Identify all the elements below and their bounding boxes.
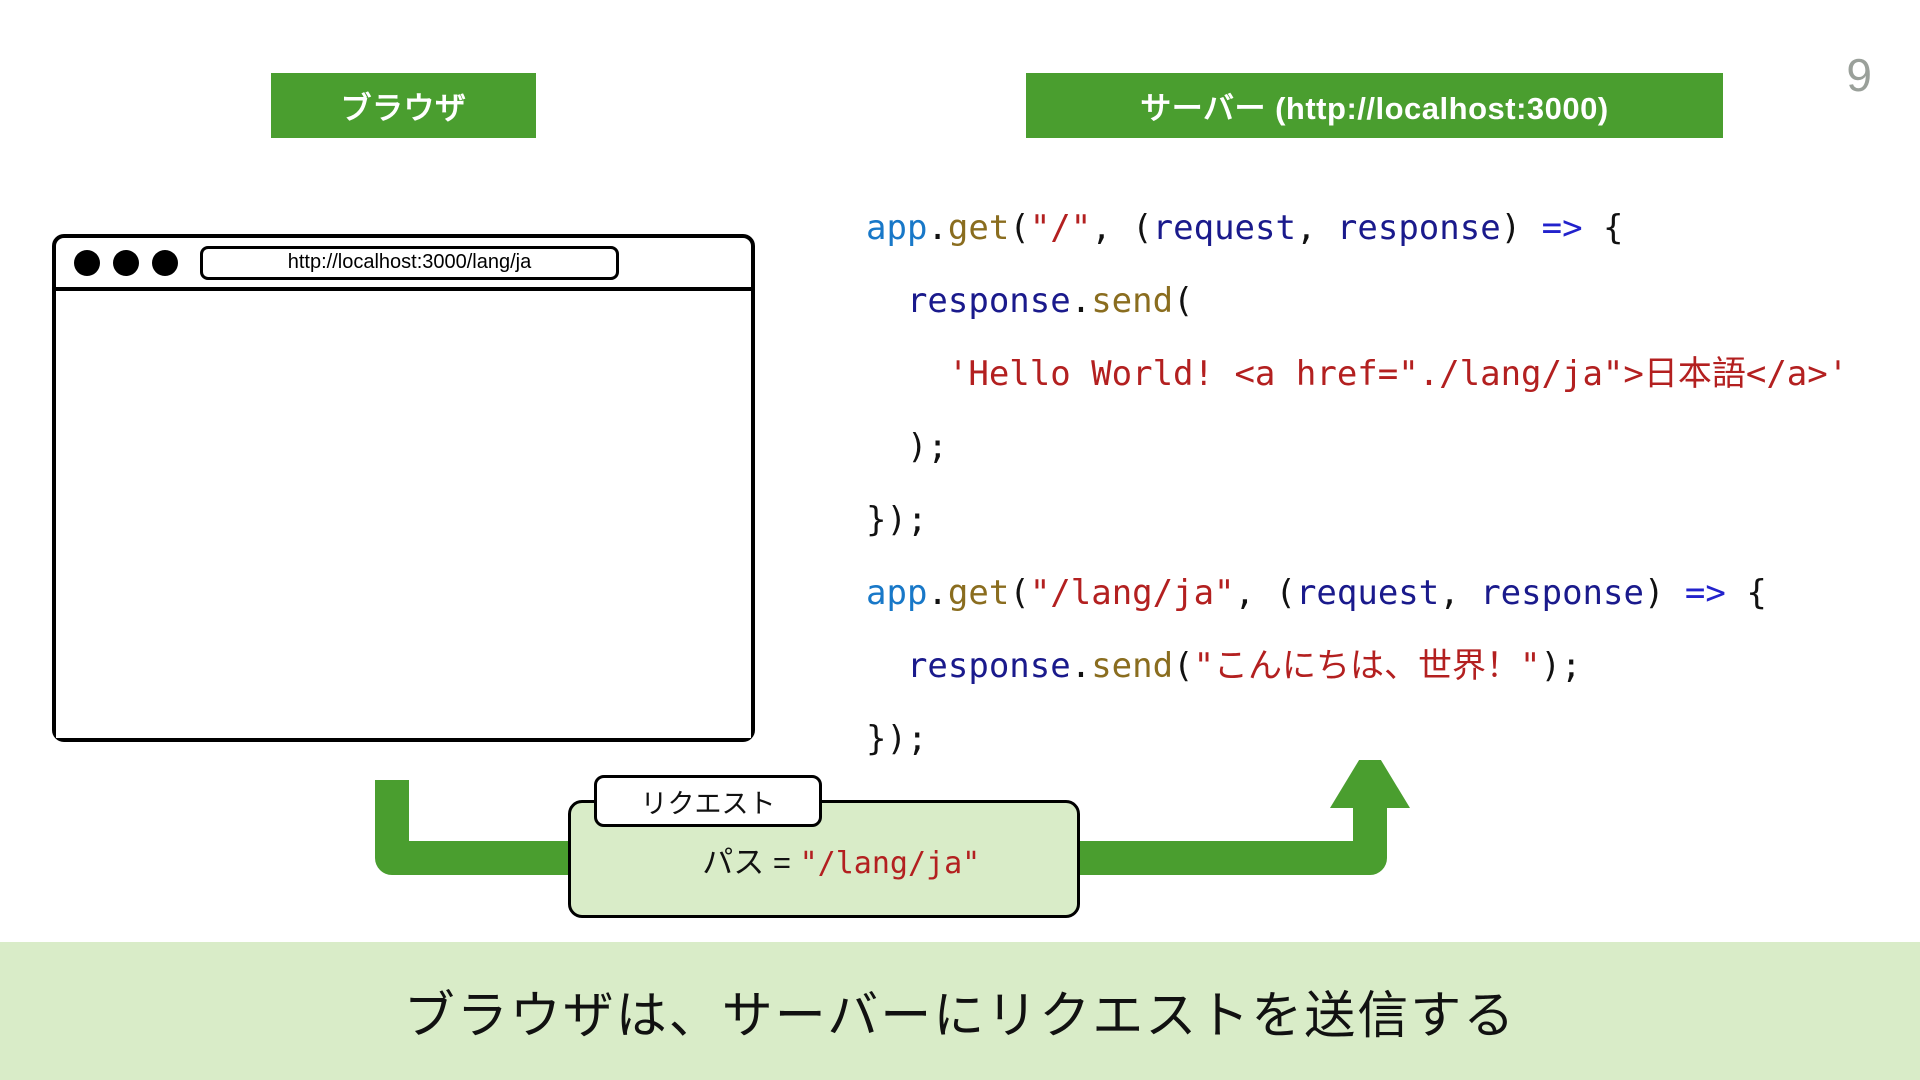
code-token: ) <box>1644 573 1685 613</box>
code-line: }); <box>866 703 1848 776</box>
slide-number: 9 <box>1846 52 1872 98</box>
request-label-box: リクエスト <box>594 775 822 827</box>
code-token: request <box>1153 208 1296 248</box>
code-token: { <box>1726 573 1767 613</box>
code-token: , ( <box>1235 573 1296 613</box>
request-path-value: "/lang/ja" <box>800 846 981 881</box>
code-token: "/lang/ja" <box>1030 573 1235 613</box>
code-token: , <box>1439 573 1480 613</box>
window-dot-minimize-icon[interactable] <box>113 250 139 276</box>
url-text: http://localhost:3000/lang/ja <box>288 251 532 274</box>
code-token: response <box>907 646 1071 686</box>
code-token: => <box>1685 573 1726 613</box>
code-token: 'Hello World! <a href="./lang/ja">日本語</a… <box>948 354 1848 394</box>
code-token: app <box>866 573 927 613</box>
code-token: get <box>948 573 1009 613</box>
caption-text: ブラウザは、サーバーにリクエストを送信する <box>404 974 1517 1048</box>
code-token: app <box>866 208 927 248</box>
code-token: response <box>1337 208 1501 248</box>
code-token: ( <box>1173 281 1193 321</box>
code-line: }); <box>866 484 1848 557</box>
banner-server: サーバー (http://localhost:3000) <box>1026 73 1723 138</box>
code-token: . <box>927 208 947 248</box>
code-token: . <box>1071 281 1091 321</box>
code-token: }); <box>866 500 927 540</box>
code-token: , <box>1296 208 1337 248</box>
code-line: app.get("/lang/ja", (request, response) … <box>866 557 1848 630</box>
banner-browser: ブラウザ <box>271 73 536 138</box>
code-token <box>866 646 907 686</box>
code-token: response <box>1480 573 1644 613</box>
code-token <box>866 281 907 321</box>
request-path-prefix: パス = <box>702 845 799 880</box>
code-line: response.send("こんにちは、世界！"); <box>866 630 1848 703</box>
code-token: "こんにちは、世界！" <box>1194 646 1541 686</box>
request-label-text: リクエスト <box>641 782 776 821</box>
code-token: . <box>1071 646 1091 686</box>
code-token: => <box>1542 208 1583 248</box>
server-code-block: app.get("/", (request, response) => { re… <box>866 192 1848 776</box>
code-token: "/" <box>1030 208 1091 248</box>
browser-window: http://localhost:3000/lang/ja <box>52 234 755 742</box>
banner-browser-label: ブラウザ <box>341 83 467 128</box>
code-line: response.send( <box>866 265 1848 338</box>
code-token: { <box>1583 208 1624 248</box>
browser-viewport <box>56 291 751 738</box>
code-token: ) <box>1501 208 1542 248</box>
code-token: ); <box>1541 646 1582 686</box>
banner-server-label: サーバー (http://localhost:3000) <box>1140 83 1608 128</box>
window-dot-close-icon[interactable] <box>74 250 100 276</box>
code-token <box>866 354 948 394</box>
code-line: ); <box>866 411 1848 484</box>
code-token: ( <box>1009 208 1029 248</box>
code-token: response <box>907 281 1071 321</box>
code-token: ); <box>866 427 948 467</box>
code-token: , ( <box>1091 208 1152 248</box>
url-bar[interactable]: http://localhost:3000/lang/ja <box>200 246 619 280</box>
code-token: request <box>1296 573 1439 613</box>
code-token: }); <box>866 719 927 759</box>
code-line: 'Hello World! <a href="./lang/ja">日本語</a… <box>866 338 1848 411</box>
code-token: send <box>1091 646 1173 686</box>
window-dot-maximize-icon[interactable] <box>152 250 178 276</box>
code-line: app.get("/", (request, response) => { <box>866 192 1848 265</box>
code-token: send <box>1091 281 1173 321</box>
caption-bar: ブラウザは、サーバーにリクエストを送信する <box>0 942 1920 1080</box>
code-token: . <box>927 573 947 613</box>
code-token: ( <box>1009 573 1029 613</box>
browser-chrome: http://localhost:3000/lang/ja <box>56 238 751 291</box>
window-control-dots <box>74 250 178 276</box>
code-token: ( <box>1173 646 1193 686</box>
code-token: get <box>948 208 1009 248</box>
